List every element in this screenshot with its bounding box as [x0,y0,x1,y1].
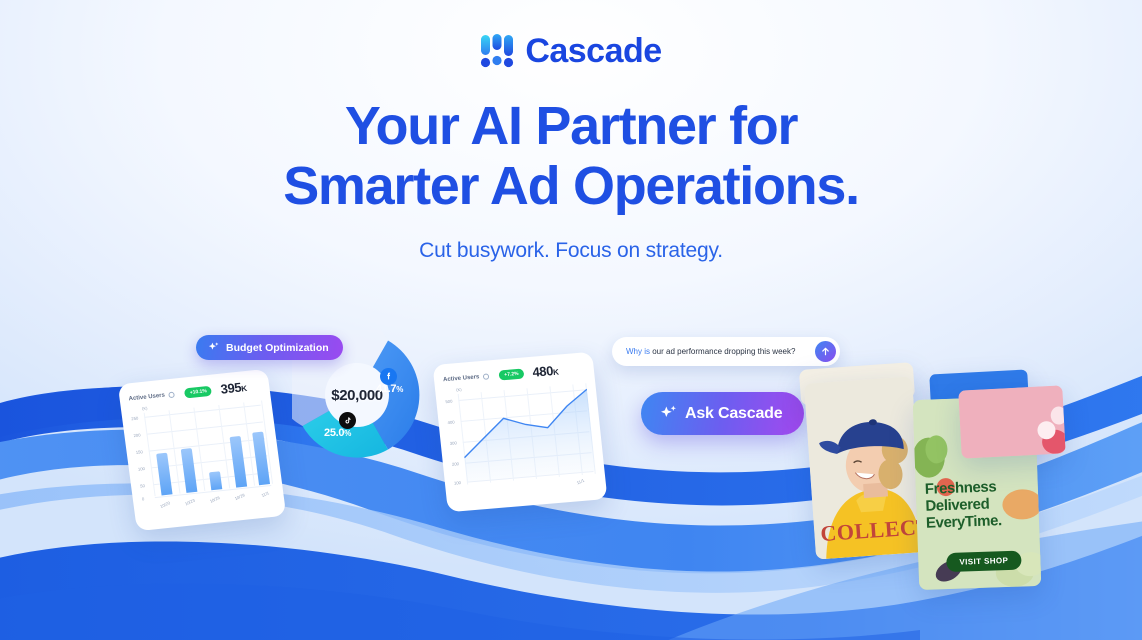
headline-line-2: Smarter Ad Operations. [0,156,1142,216]
line-y-tick-100: 100 [454,480,461,486]
ai-prompt-bar[interactable]: Why is our ad performance dropping this … [612,337,840,366]
line-chart-value-suffix: K [553,368,559,377]
brand-logo[interactable]: Cascade [0,34,1142,68]
facebook-glyph [383,371,394,382]
tiktok-percent-value: 25.0 [324,427,344,439]
brand-name: Cascade [525,34,661,68]
budget-optimization-pill[interactable]: Budget Optimization [196,335,343,360]
info-icon[interactable] [483,373,490,379]
bar[interactable] [230,436,248,488]
bar-chart-card[interactable]: Active Users +10.1% 395K (K) 250 200 150… [118,369,287,531]
line-chart-badge: +7.2% [499,368,524,380]
cascade-dots-logo-icon [480,34,516,68]
budget-optimization-label: Budget Optimization [226,342,329,354]
visit-shop-button[interactable]: VISIT SHOP [946,551,1022,573]
bar-y-tick-100: 100 [138,466,146,472]
bar[interactable] [156,453,172,496]
bar-x-tick: 10/20 [159,500,171,509]
ask-cascade-label: Ask Cascade [685,405,782,423]
line-y-tick-400: 400 [447,419,454,425]
line-chart-value: 480K [532,363,559,380]
tiktok-glyph [343,416,353,426]
bar-y-tick-0: 0 [142,496,145,501]
bar-chart-y-unit: (K) [142,406,148,412]
bar[interactable] [181,448,198,493]
sparkle-icon [207,341,220,354]
bar-x-tick: 10/26 [209,495,221,504]
line-series [458,385,596,481]
bar-y-tick-250: 250 [131,416,139,422]
bar-chart-value-suffix: K [241,384,248,393]
headline-line-1: Your AI Partner for [345,96,797,156]
bar-y-tick-200: 200 [133,432,141,438]
bar-x-tick: 11/1 [261,490,270,498]
bar-y-tick-50: 50 [140,483,145,488]
sparkles-icon [658,403,679,424]
tiktok-percent-suffix: % [344,429,351,438]
prompt-rest: our ad performance dropping this week? [650,347,795,356]
arrow-up-icon [820,346,831,357]
bar-x-tick: 10/23 [184,498,196,507]
gridline [144,413,156,496]
info-icon[interactable] [168,391,175,398]
bar-chart-badge: +10.1% [184,385,212,398]
ad-green-headline-3: EveryTime. [926,512,1002,532]
ad-card-photo[interactable]: COLLECTION [804,376,924,559]
line-y-tick-200: 200 [452,461,459,467]
line-x-tick: 11/1 [576,478,585,486]
line-chart-plot: (K) 500 400 300 200 100 [444,379,597,495]
facebook-percent-suffix: % [396,385,403,394]
prompt-text: Why is our ad performance dropping this … [626,347,795,356]
bar-y-tick-150: 150 [135,449,143,455]
bar-chart-value: 395K [220,379,248,397]
bar[interactable] [209,471,222,490]
send-button[interactable] [815,341,836,362]
ad-pink-art [958,385,1065,458]
bar[interactable] [252,432,270,486]
donut-center-value: $20,000 [331,387,382,404]
page-title: Your AI Partner for Smarter Ad Operation… [0,96,1142,217]
bar-chart-value-number: 395 [220,380,242,397]
ad-card-pink[interactable]: AURORA COFFEE Strawberry Delux [958,385,1065,458]
bar-chart-plot: (K) 250 200 150 100 50 0 10/20 [130,397,274,510]
line-chart-card[interactable]: Active Users +7.2% 480K (K) 500 400 300 … [433,352,608,513]
line-chart-title: Active Users [443,374,480,383]
hero-header: Cascade Your AI Partner for Smarter Ad O… [0,0,1142,263]
bar-x-tick: 10/29 [234,492,246,501]
line-chart-value-number: 480 [532,363,554,380]
tiktok-percent: 25.0% [324,427,351,439]
line-y-tick-300: 300 [450,440,457,446]
line-y-tick-500: 500 [445,399,452,405]
line-chart-y-unit: (K) [456,387,462,392]
ad-green-headline: Freshness Delivered EveryTime. [925,479,1002,532]
bar-chart-title: Active Users [128,392,165,402]
subheadline: Cut busywork. Focus on strategy. [0,239,1142,263]
prompt-highlight: Why is [626,347,650,356]
facebook-percent-value: 41.7 [376,383,396,395]
facebook-percent: 41.7% [376,383,403,395]
ask-cascade-button[interactable]: Ask Cascade [641,392,804,435]
